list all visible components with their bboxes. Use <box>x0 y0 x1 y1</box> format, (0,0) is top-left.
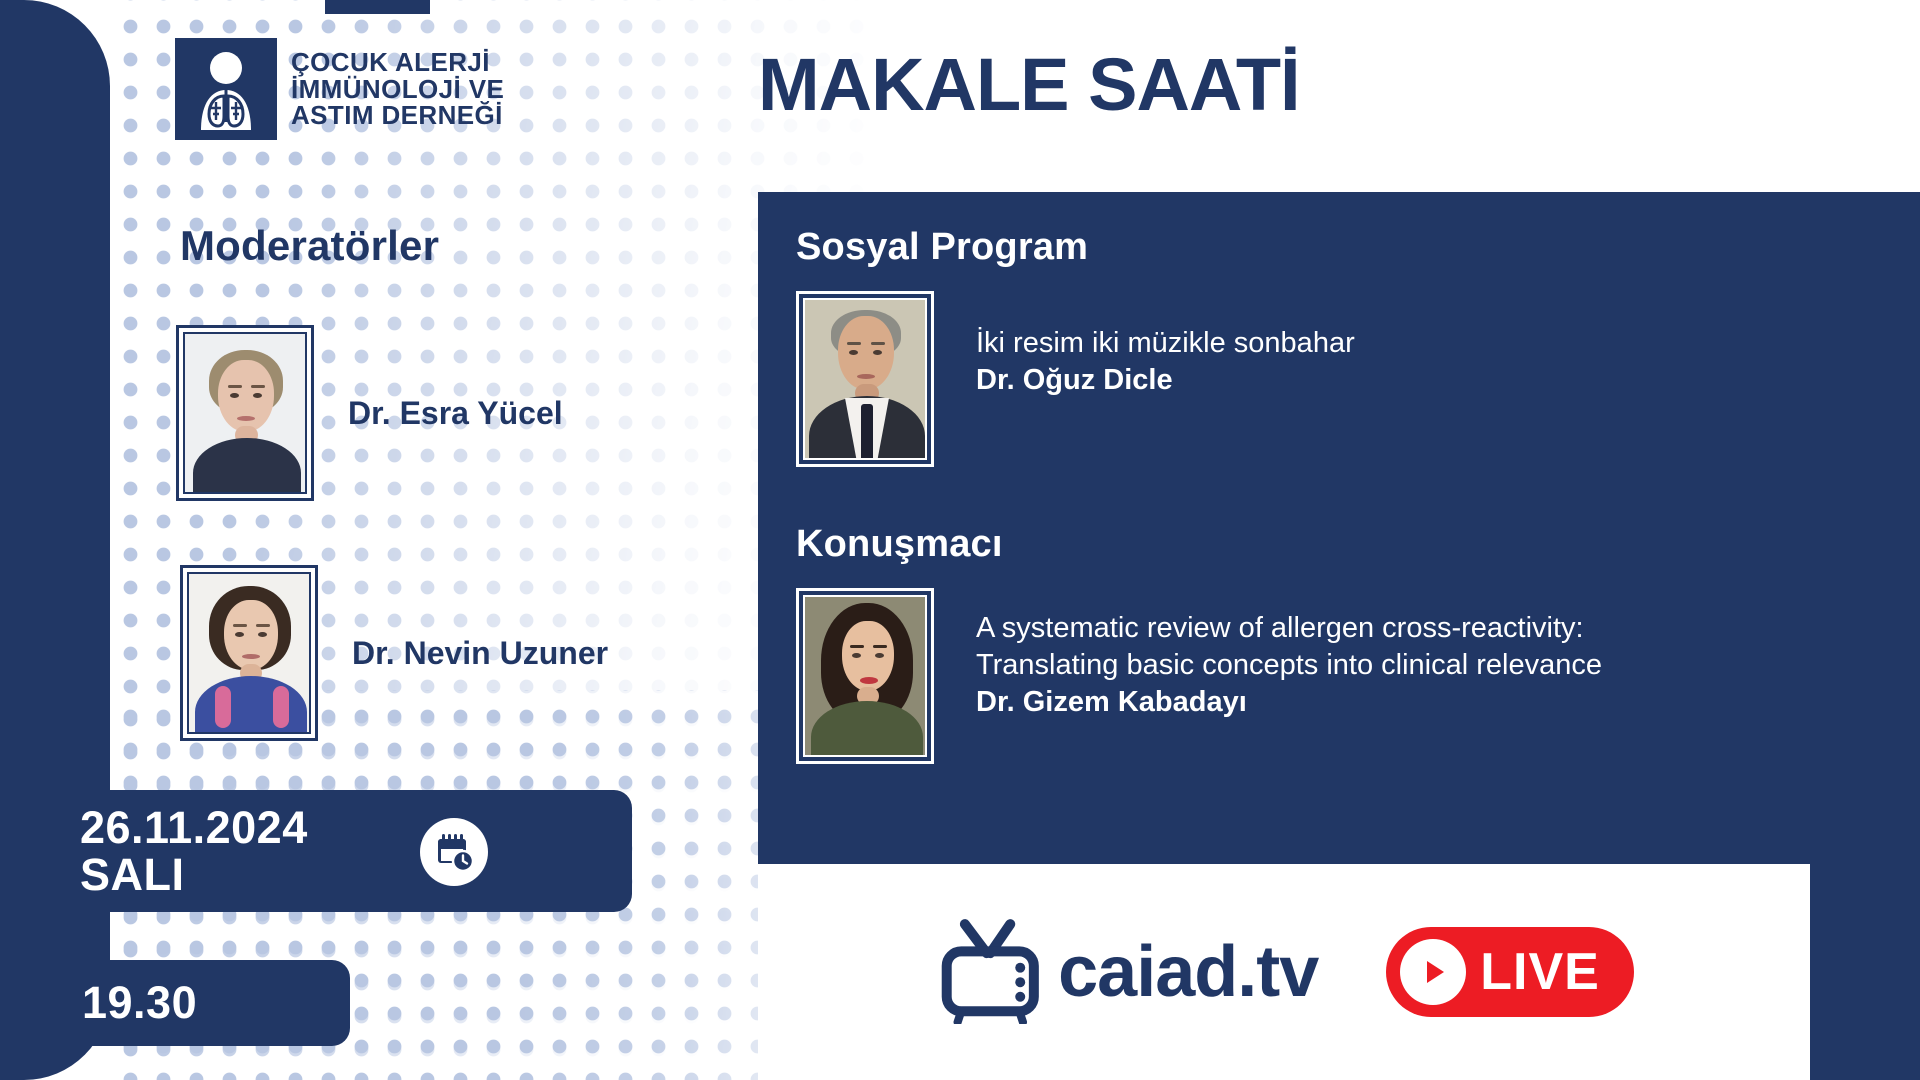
poster-canvas: ÇOCUK ALERJİ İMMÜNOLOJİ VE ASTIM DERNEĞİ… <box>0 0 1920 1080</box>
moderator-avatar-0 <box>176 325 314 501</box>
speaker-name: Dr. Gizem Kabadayı <box>976 686 1602 719</box>
moderator-item-0: Dr. Esra Yücel <box>176 325 563 501</box>
day-value: SALI <box>80 851 308 898</box>
date-text: 26.11.2024 SALI <box>80 804 308 899</box>
play-icon <box>1400 939 1466 1005</box>
moderator-name-1: Dr. Nevin Uzuner <box>352 635 608 672</box>
logo-line-3: ASTIM DERNEĞİ <box>291 102 504 129</box>
social-program-heading: Sosyal Program <box>796 226 1920 269</box>
brand-text: caiad.tv <box>1058 936 1318 1008</box>
speaker-entry: A systematic review of allergen cross-re… <box>796 588 1920 764</box>
page-title: MAKALE SAATİ <box>758 42 1300 127</box>
left-navy-rail <box>0 0 110 1080</box>
moderator-item-1: Dr. Nevin Uzuner <box>180 565 608 741</box>
time-chip: 19.30 <box>0 960 350 1046</box>
association-logo: ÇOCUK ALERJİ İMMÜNOLOJİ VE ASTIM DERNEĞİ <box>175 38 504 140</box>
moderators-heading: Moderatörler <box>180 222 439 270</box>
caiad-tv-brand[interactable]: caiad.tv <box>934 915 1318 1029</box>
logo-line-2: İMMÜNOLOJİ VE <box>291 76 504 103</box>
date-chip: 26.11.2024 SALI <box>0 790 632 912</box>
time-value: 19.30 <box>82 977 197 1029</box>
speaker-talk-title-line-1: A systematic review of allergen cross-re… <box>976 610 1602 647</box>
live-badge[interactable]: LIVE <box>1386 927 1634 1017</box>
live-label: LIVE <box>1480 946 1600 998</box>
social-program-talk-title: İki resim iki müzikle sonbahar <box>976 325 1355 362</box>
logo-line-1: ÇOCUK ALERJİ <box>291 49 504 76</box>
footer-navy-fill <box>1810 864 1920 1080</box>
logo-wordmark: ÇOCUK ALERJİ İMMÜNOLOJİ VE ASTIM DERNEĞİ <box>291 49 504 129</box>
moderator-name-0: Dr. Esra Yücel <box>348 395 563 432</box>
footer-bar: caiad.tv LIVE <box>758 864 1810 1080</box>
speaker-heading: Konuşmacı <box>796 523 1920 566</box>
calendar-clock-icon <box>420 818 488 886</box>
social-program-avatar <box>796 291 934 467</box>
moderator-avatar-1 <box>180 565 318 741</box>
speaker-avatar <box>796 588 934 764</box>
person-lungs-icon <box>175 38 277 140</box>
social-program-entry: İki resim iki müzikle sonbahar Dr. Oğuz … <box>796 291 1920 467</box>
program-panel: Sosyal Program <box>758 192 1920 864</box>
speaker-talk-title-line-2: Translating basic concepts into clinical… <box>976 647 1602 684</box>
social-program-speaker: Dr. Oğuz Dicle <box>976 364 1355 397</box>
top-navy-tab <box>325 0 430 14</box>
tv-icon <box>934 915 1052 1029</box>
date-value: 26.11.2024 <box>80 804 308 851</box>
